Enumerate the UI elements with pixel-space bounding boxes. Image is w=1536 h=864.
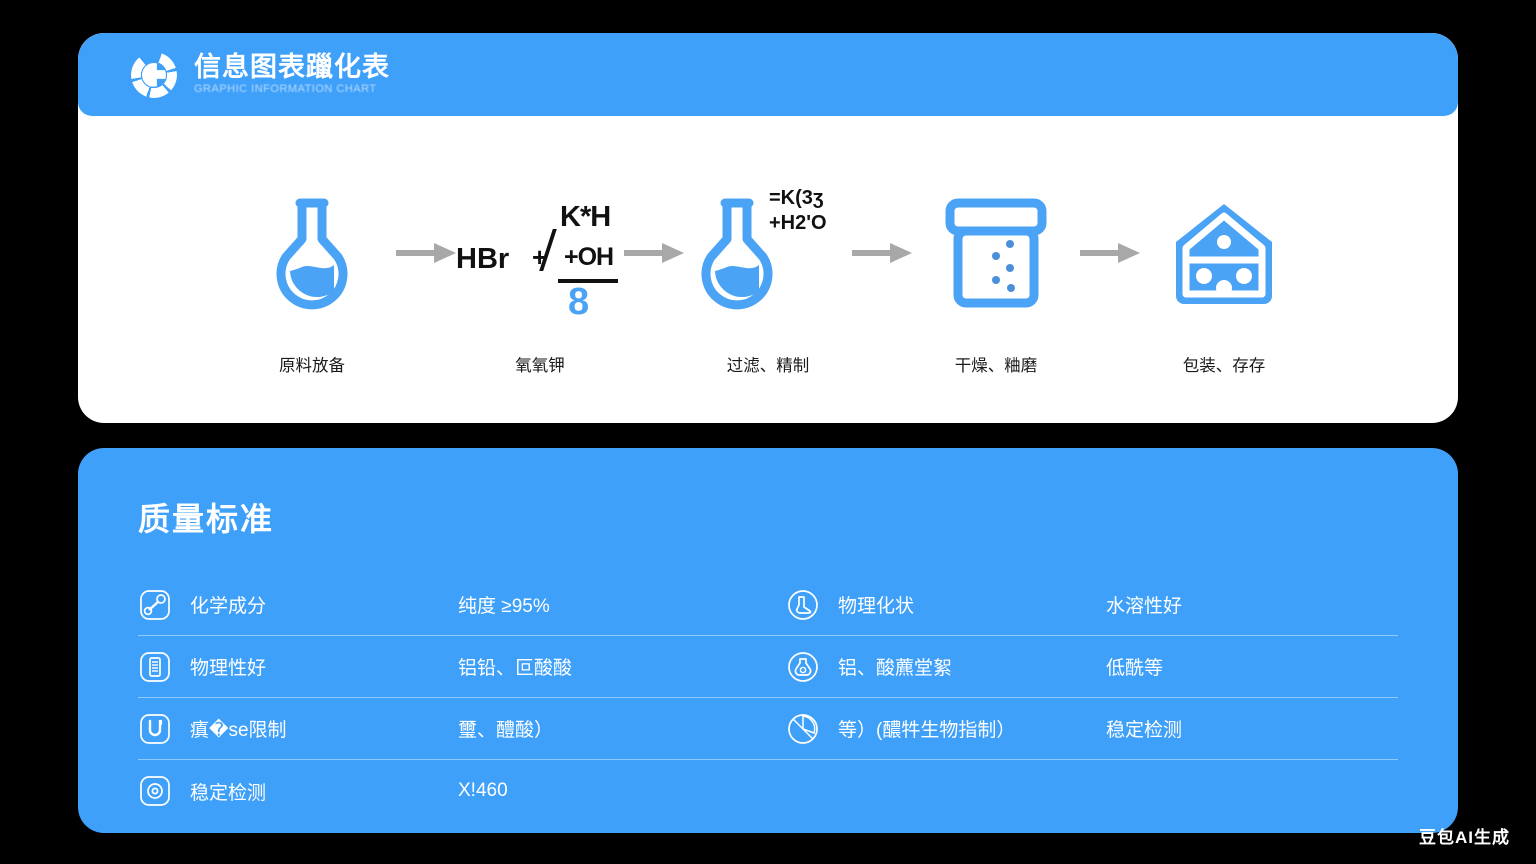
- spec-cell-left: 稳定检测 X!460: [138, 760, 768, 822]
- flask-formula-text: =K(3ʒ +H2'O: [769, 186, 827, 236]
- right-arrow-icon: [616, 240, 692, 266]
- spec-name: 等）(醲牪生物指制）: [838, 715, 1088, 742]
- round-flask-icon: [266, 184, 358, 324]
- spec-cell-left: 化学成分 纯度 ≥95%: [138, 574, 768, 635]
- spec-value: 铝铅、叵酸酸: [458, 653, 572, 680]
- magnet-icon: [138, 712, 172, 746]
- spec-value: 稳定检测: [1106, 715, 1182, 742]
- process-step-4: 干燥、粬磨: [920, 116, 1072, 376]
- spec-name: 瘨�se限制: [190, 715, 440, 742]
- process-card: 信息图表躐化表 GRAPHIC INFORMATION CHART 原料放备: [78, 33, 1458, 423]
- brand-text: 信息图表躐化表 GRAPHIC INFORMATION CHART: [194, 54, 390, 95]
- jar-container-icon: [944, 184, 1048, 324]
- spec-cell-left: 物理性好 铝铅、叵酸酸: [138, 636, 768, 697]
- process-flow: 原料放备 HBr + K*H +OH 8: [78, 116, 1458, 423]
- process-step-label: 原料放备: [279, 352, 345, 376]
- warehouse-icon: [1168, 184, 1280, 324]
- process-step-label: 氧氧钾: [515, 352, 565, 376]
- document-icon: [138, 650, 172, 684]
- spec-row: 物理性好 铝铅、叵酸酸 铝、酸藨堂絮 低酰等: [138, 636, 1398, 698]
- spec-value: X!460: [458, 780, 508, 802]
- spec-value: 纯度 ≥95%: [458, 591, 550, 618]
- right-arrow-icon: [1072, 240, 1148, 266]
- spec-name: 铝、酸藨堂絮: [838, 653, 1088, 680]
- spec-row: 化学成分 纯度 ≥95% 物理化状 水溶性好: [138, 574, 1398, 636]
- chemical-formula-icon: HBr + K*H +OH 8: [460, 184, 620, 324]
- quality-standards-panel: 质量标准 化学成分 纯度 ≥95%: [78, 448, 1458, 833]
- process-step-label: 包装、存存: [1183, 352, 1266, 376]
- spec-cell-right: 等）(醲牪生物指制） 稳定检测: [768, 698, 1398, 759]
- right-arrow-icon: [844, 240, 920, 266]
- watermark: 豆包AI生成: [1419, 823, 1510, 848]
- spec-cell-right: 物理化状 水溶性好: [768, 574, 1398, 635]
- spec-name: 稳定检测: [190, 778, 440, 805]
- process-step-2: HBr + K*H +OH 8 氧氧钾: [464, 116, 616, 376]
- formula-top: K*H: [560, 203, 610, 232]
- spec-name: 物理性好: [190, 653, 440, 680]
- target-icon: [138, 774, 172, 808]
- process-step-1: 原料放备: [236, 116, 388, 376]
- spec-value: 水溶性好: [1106, 591, 1182, 618]
- header-bar: 信息图表躐化表 GRAPHIC INFORMATION CHART: [78, 33, 1458, 116]
- thermometer-icon: [138, 588, 172, 622]
- circular-c-logo-icon: [131, 52, 177, 98]
- spec-value: 璽、醴酸）: [458, 715, 553, 742]
- spec-name: 物理化状: [838, 591, 1088, 618]
- process-step-3: =K(3ʒ +H2'O 过滤、精制: [692, 116, 844, 376]
- flask-formula-line-2: +H2'O: [769, 211, 827, 236]
- process-step-5: 包装、存存: [1148, 116, 1300, 376]
- quality-standards-title: 质量标准: [138, 494, 1398, 540]
- page-title: 信息图表躐化表: [194, 54, 390, 81]
- boot-shape-icon: [786, 588, 820, 622]
- process-step-label: 干燥、粬磨: [955, 352, 1038, 376]
- spec-row: 稳定检测 X!460: [138, 760, 1398, 822]
- formula-below: 8: [568, 283, 589, 321]
- process-step-label: 过滤、精制: [727, 352, 810, 376]
- spec-cell-right: 铝、酸藨堂絮 低酰等: [768, 636, 1398, 697]
- spec-value: 低酰等: [1106, 653, 1163, 680]
- formula-reagent: HBr: [456, 245, 509, 274]
- spec-row: 瘨�se限制 璽、醴酸） 等）(醲牪生物指制） 稳定检测: [138, 698, 1398, 760]
- flask-formula-line-1: =K(3ʒ: [769, 186, 827, 211]
- quality-standards-grid: 化学成分 纯度 ≥95% 物理化状 水溶性好: [138, 574, 1398, 822]
- page-subtitle: GRAPHIC INFORMATION CHART: [194, 84, 390, 95]
- infographic-page: 信息图表躐化表 GRAPHIC INFORMATION CHART 原料放备: [0, 0, 1536, 864]
- spec-cell-left: 瘨�se限制 璽、醴酸）: [138, 698, 768, 759]
- spec-name: 化学成分: [190, 591, 440, 618]
- right-arrow-icon: [388, 240, 464, 266]
- gear-flask-icon: [786, 650, 820, 684]
- flask-reaction-icon: =K(3ʒ +H2'O: [691, 184, 845, 324]
- pie-chart-icon: [786, 712, 820, 746]
- formula-bottom: +OH: [564, 245, 613, 270]
